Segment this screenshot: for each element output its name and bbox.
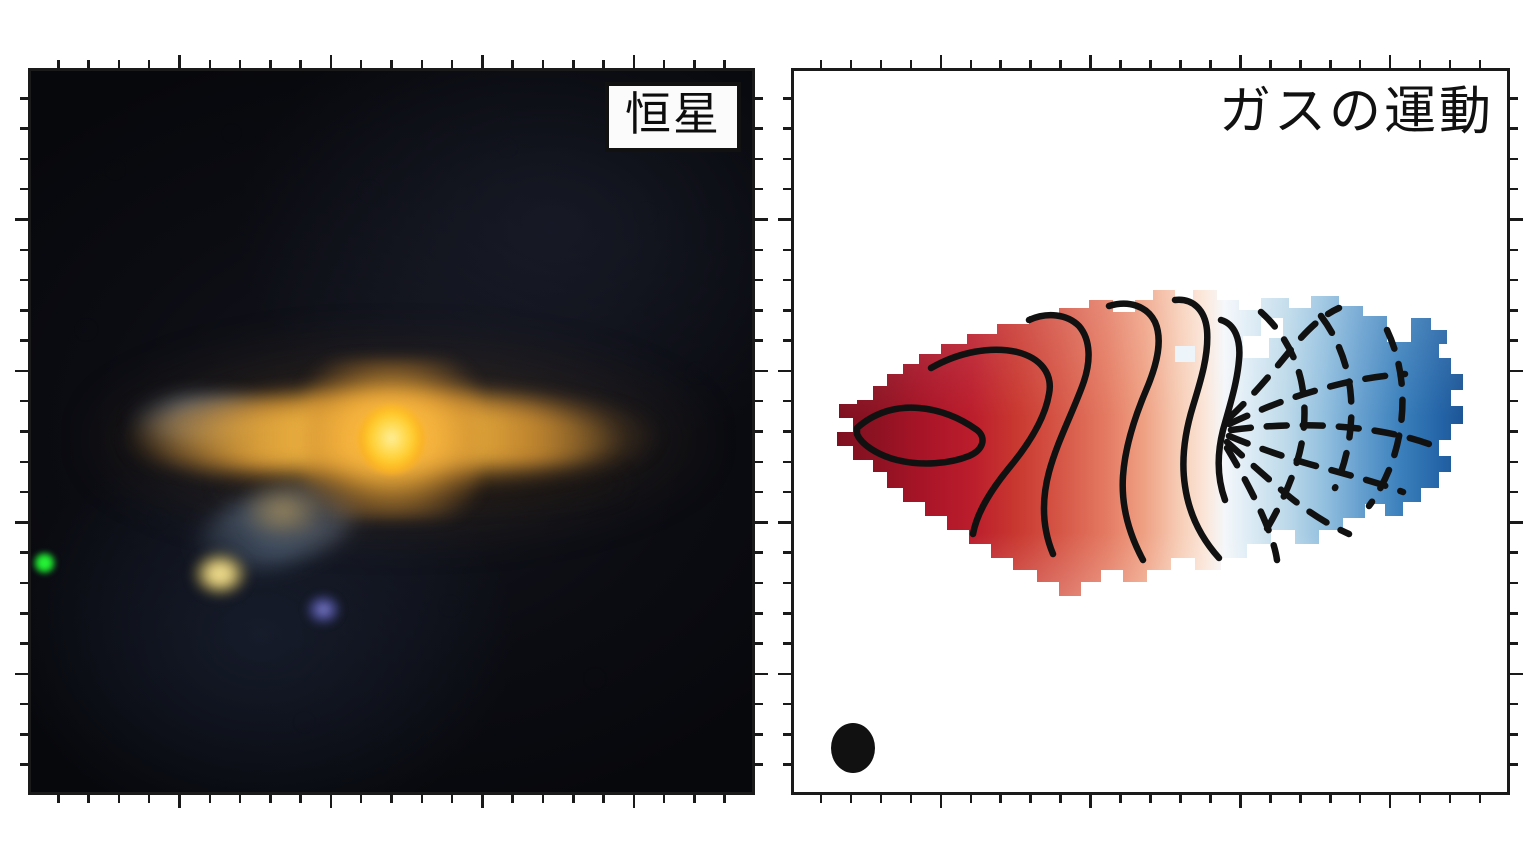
axis-tick (330, 795, 333, 808)
axis-tick (299, 60, 302, 68)
kinematics-panel-label: ガスの運動 (1219, 86, 1494, 138)
axis-tick (783, 339, 791, 342)
axis-tick (1479, 60, 1482, 68)
axis-tick (15, 218, 28, 221)
axis-tick (910, 795, 913, 803)
axis-tick (755, 339, 763, 342)
axis-tick (1089, 55, 1092, 68)
axis-tick (755, 370, 768, 373)
axis-tick (1269, 795, 1272, 803)
axis-tick (118, 795, 121, 803)
axis-tick (820, 795, 823, 803)
axis-tick (1419, 795, 1422, 803)
axis-tick (20, 249, 28, 252)
axis-tick (880, 795, 883, 803)
axis-tick (1179, 60, 1182, 68)
axis-tick (1510, 309, 1518, 312)
axis-tick (239, 795, 242, 803)
axis-tick (755, 400, 763, 403)
axis-tick (209, 60, 212, 68)
axis-tick (1479, 795, 1482, 803)
axis-tick (1389, 795, 1392, 808)
axis-tick (1359, 795, 1362, 803)
axis-tick (421, 795, 424, 803)
axis-tick (1510, 673, 1523, 676)
axis-tick (269, 60, 272, 68)
axis-tick (940, 55, 943, 68)
axis-tick (755, 582, 763, 585)
axis-tick (755, 703, 763, 706)
figure-root: 恒星 (0, 0, 1536, 864)
axis-tick (633, 55, 636, 68)
kinematics-panel-frame (791, 68, 1510, 795)
axis-tick (20, 339, 28, 342)
stellar-panel-frame (28, 68, 755, 795)
axis-tick (118, 60, 121, 68)
axis-tick (1510, 218, 1523, 221)
axis-tick (1059, 795, 1062, 803)
axis-tick (778, 673, 791, 676)
axis-tick (783, 642, 791, 645)
axis-tick (755, 158, 763, 161)
axis-tick (1209, 60, 1212, 68)
axis-tick (755, 733, 763, 736)
axis-tick (783, 97, 791, 100)
axis-tick (755, 218, 768, 221)
axis-tick (330, 55, 333, 68)
axis-tick (1149, 60, 1152, 68)
axis-tick (239, 60, 242, 68)
axis-tick (693, 60, 696, 68)
axis-tick (57, 60, 60, 68)
axis-tick (1510, 339, 1518, 342)
axis-tick (20, 642, 28, 645)
axis-tick (1510, 763, 1518, 766)
axis-tick (1239, 55, 1242, 68)
axis-tick (755, 309, 763, 312)
axis-tick (1209, 795, 1212, 803)
axis-tick (20, 127, 28, 130)
axis-tick (511, 60, 514, 68)
stellar-panel-label: 恒星 (605, 82, 741, 152)
axis-tick (970, 795, 973, 803)
axis-tick (755, 249, 763, 252)
axis-tick (481, 795, 484, 808)
axis-tick (178, 55, 181, 68)
axis-tick (269, 795, 272, 803)
axis-tick (451, 60, 454, 68)
axis-tick (1510, 97, 1518, 100)
axis-tick (1119, 60, 1122, 68)
axis-tick (755, 612, 763, 615)
axis-tick (999, 60, 1002, 68)
axis-tick (778, 370, 791, 373)
axis-tick (511, 795, 514, 803)
axis-tick (1059, 60, 1062, 68)
axis-tick (850, 60, 853, 68)
axis-tick (1510, 249, 1518, 252)
axis-tick (20, 551, 28, 554)
axis-tick (148, 795, 151, 803)
axis-tick (20, 491, 28, 494)
axis-tick (1510, 127, 1518, 130)
axis-tick (1419, 60, 1422, 68)
axis-tick (999, 795, 1002, 803)
axis-tick (1089, 795, 1092, 808)
axis-tick (755, 673, 768, 676)
axis-tick (1299, 60, 1302, 68)
axis-tick (1510, 188, 1518, 191)
axis-tick (723, 795, 726, 803)
axis-tick (20, 279, 28, 282)
axis-tick (178, 795, 181, 808)
axis-tick (1510, 521, 1523, 524)
axis-tick (783, 430, 791, 433)
axis-tick (20, 612, 28, 615)
axis-tick (783, 733, 791, 736)
axis-tick (1510, 158, 1518, 161)
axis-tick (1510, 612, 1518, 615)
axis-tick (20, 763, 28, 766)
axis-tick (1119, 795, 1122, 803)
axis-tick (20, 733, 28, 736)
axis-tick (783, 309, 791, 312)
axis-tick (633, 795, 636, 808)
axis-tick (755, 97, 763, 100)
axis-tick (778, 521, 791, 524)
axis-tick (1239, 795, 1242, 808)
axis-tick (783, 491, 791, 494)
axis-tick (1359, 60, 1362, 68)
axis-tick (783, 249, 791, 252)
axis-tick (20, 188, 28, 191)
axis-tick (421, 60, 424, 68)
axis-tick (755, 491, 763, 494)
axis-tick (1510, 551, 1518, 554)
axis-tick (783, 188, 791, 191)
axis-tick (20, 97, 28, 100)
axis-tick (20, 158, 28, 161)
axis-tick (15, 521, 28, 524)
axis-tick (755, 279, 763, 282)
axis-tick (1029, 60, 1032, 68)
axis-tick (755, 521, 768, 524)
axis-tick (572, 795, 575, 803)
axis-tick (1329, 795, 1332, 803)
axis-tick (783, 127, 791, 130)
axis-tick (693, 795, 696, 803)
axis-tick (755, 188, 763, 191)
axis-tick (1510, 733, 1518, 736)
axis-tick (910, 60, 913, 68)
axis-tick (970, 60, 973, 68)
axis-tick (1510, 642, 1518, 645)
axis-tick (1269, 60, 1272, 68)
axis-tick (663, 795, 666, 803)
axis-tick (755, 642, 763, 645)
axis-tick (87, 795, 90, 803)
axis-tick (451, 795, 454, 803)
axis-tick (87, 60, 90, 68)
axis-tick (542, 795, 545, 803)
axis-tick (1449, 795, 1452, 803)
axis-tick (1029, 795, 1032, 803)
axis-tick (1449, 60, 1452, 68)
axis-tick (20, 400, 28, 403)
stellar-image-panel: 恒星 (28, 68, 755, 795)
axis-tick (15, 370, 28, 373)
axis-tick (755, 461, 763, 464)
axis-tick (15, 673, 28, 676)
axis-tick (755, 551, 763, 554)
axis-tick (1510, 461, 1518, 464)
axis-tick (783, 551, 791, 554)
axis-tick (602, 60, 605, 68)
axis-tick (783, 279, 791, 282)
gas-kinematics-panel: ガスの運動 (791, 68, 1510, 795)
axis-tick (755, 127, 763, 130)
axis-tick (755, 763, 763, 766)
axis-tick (20, 703, 28, 706)
axis-tick (1510, 370, 1523, 373)
axis-tick (20, 461, 28, 464)
axis-tick (1329, 60, 1332, 68)
axis-tick (1149, 795, 1152, 803)
axis-tick (850, 795, 853, 803)
axis-tick (755, 430, 763, 433)
axis-tick (723, 60, 726, 68)
axis-tick (663, 60, 666, 68)
axis-tick (783, 582, 791, 585)
axis-tick (20, 309, 28, 312)
axis-tick (783, 612, 791, 615)
axis-tick (783, 763, 791, 766)
axis-tick (1510, 430, 1518, 433)
axis-tick (542, 60, 545, 68)
axis-tick (1510, 703, 1518, 706)
axis-tick (481, 55, 484, 68)
axis-tick (1510, 582, 1518, 585)
axis-tick (1510, 400, 1518, 403)
axis-tick (1510, 491, 1518, 494)
axis-tick (783, 703, 791, 706)
axis-tick (1389, 55, 1392, 68)
axis-tick (783, 158, 791, 161)
axis-tick (1179, 795, 1182, 803)
axis-tick (360, 795, 363, 803)
axis-tick (1510, 279, 1518, 282)
axis-tick (1299, 795, 1302, 803)
axis-tick (783, 461, 791, 464)
axis-tick (820, 60, 823, 68)
axis-tick (209, 795, 212, 803)
axis-tick (783, 400, 791, 403)
axis-tick (57, 795, 60, 803)
axis-tick (299, 795, 302, 803)
axis-tick (20, 582, 28, 585)
axis-tick (20, 430, 28, 433)
axis-tick (148, 60, 151, 68)
axis-tick (602, 795, 605, 803)
axis-tick (778, 218, 791, 221)
axis-tick (360, 60, 363, 68)
axis-tick (880, 60, 883, 68)
axis-tick (390, 60, 393, 68)
axis-tick (940, 795, 943, 808)
axis-tick (390, 795, 393, 803)
axis-tick (572, 60, 575, 68)
